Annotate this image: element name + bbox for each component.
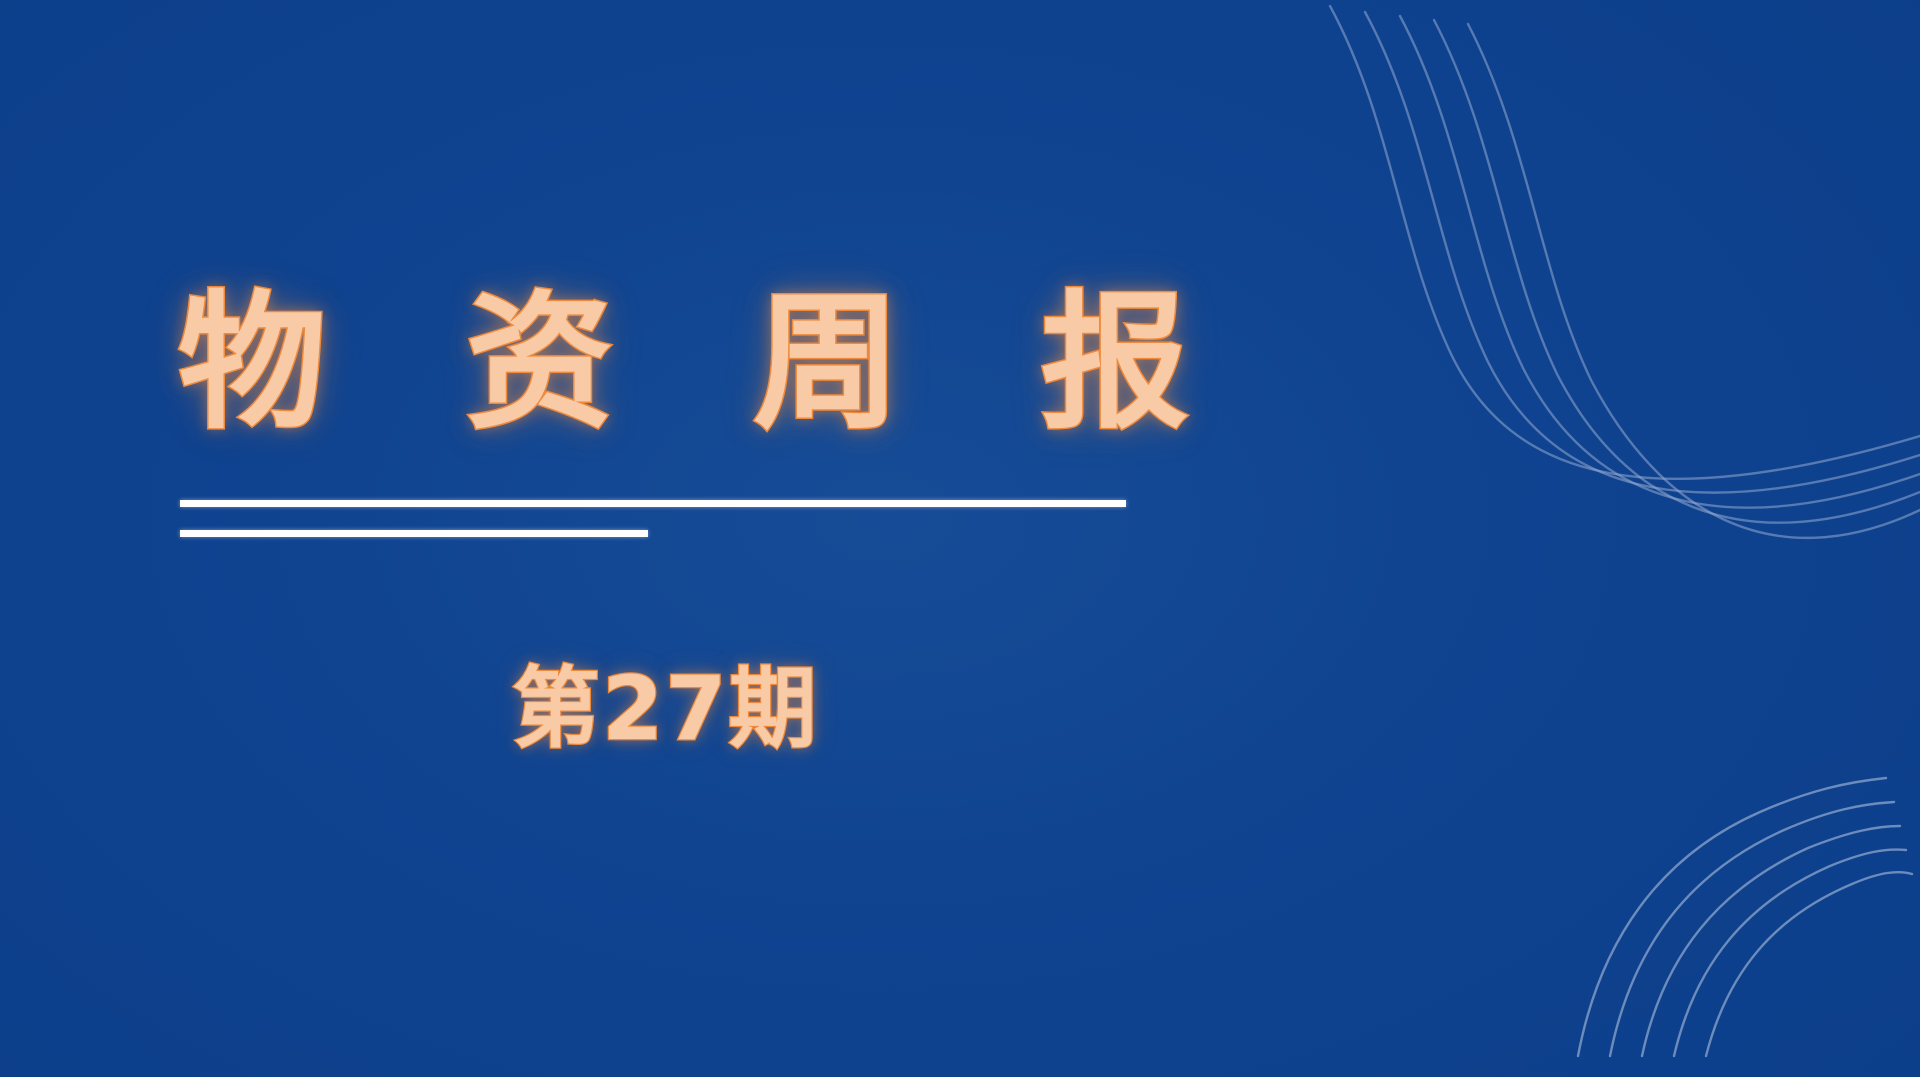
slide-main-title: 物 资 周 报 <box>178 286 1178 441</box>
title-block: 物 资 周 报 <box>178 286 1178 441</box>
title-underline-short <box>180 530 648 537</box>
top-right-decoration <box>0 0 1920 1077</box>
background-gradient <box>0 0 1920 1077</box>
bottom-right-decoration <box>0 0 1920 1077</box>
title-slide: 物 资 周 报 第27期 <box>0 0 1920 1077</box>
title-underline-long <box>180 500 1126 507</box>
slide-subtitle-issue: 第27期 <box>512 638 818 765</box>
